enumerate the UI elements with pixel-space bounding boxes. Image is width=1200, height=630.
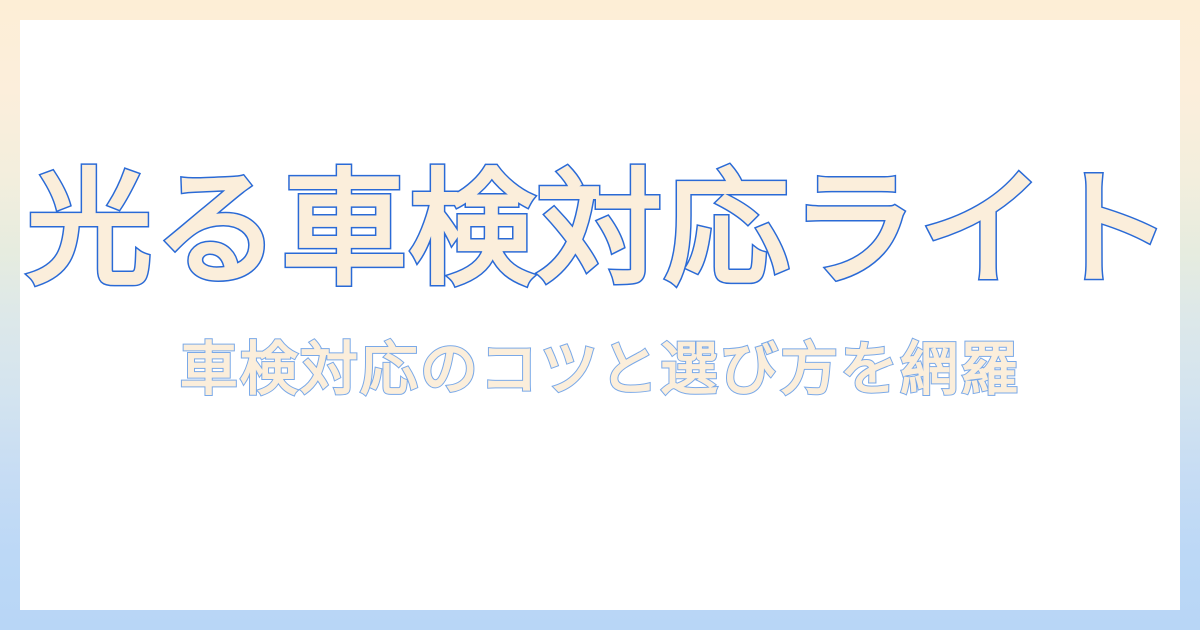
banner-card: 光る車検対応ライト 車検対応のコツと選び方を網羅 bbox=[0, 0, 1200, 630]
headline-subtitle: 車検対応のコツと選び方を網羅 bbox=[20, 339, 1180, 400]
headline-text-stack: 光る車検対応ライト 車検対応のコツと選び方を網羅 bbox=[20, 166, 1180, 457]
headline-title: 光る車検対応ライト bbox=[20, 166, 1180, 295]
card-inner-panel: 光る車検対応ライト 車検対応のコツと選び方を網羅 bbox=[20, 20, 1180, 610]
